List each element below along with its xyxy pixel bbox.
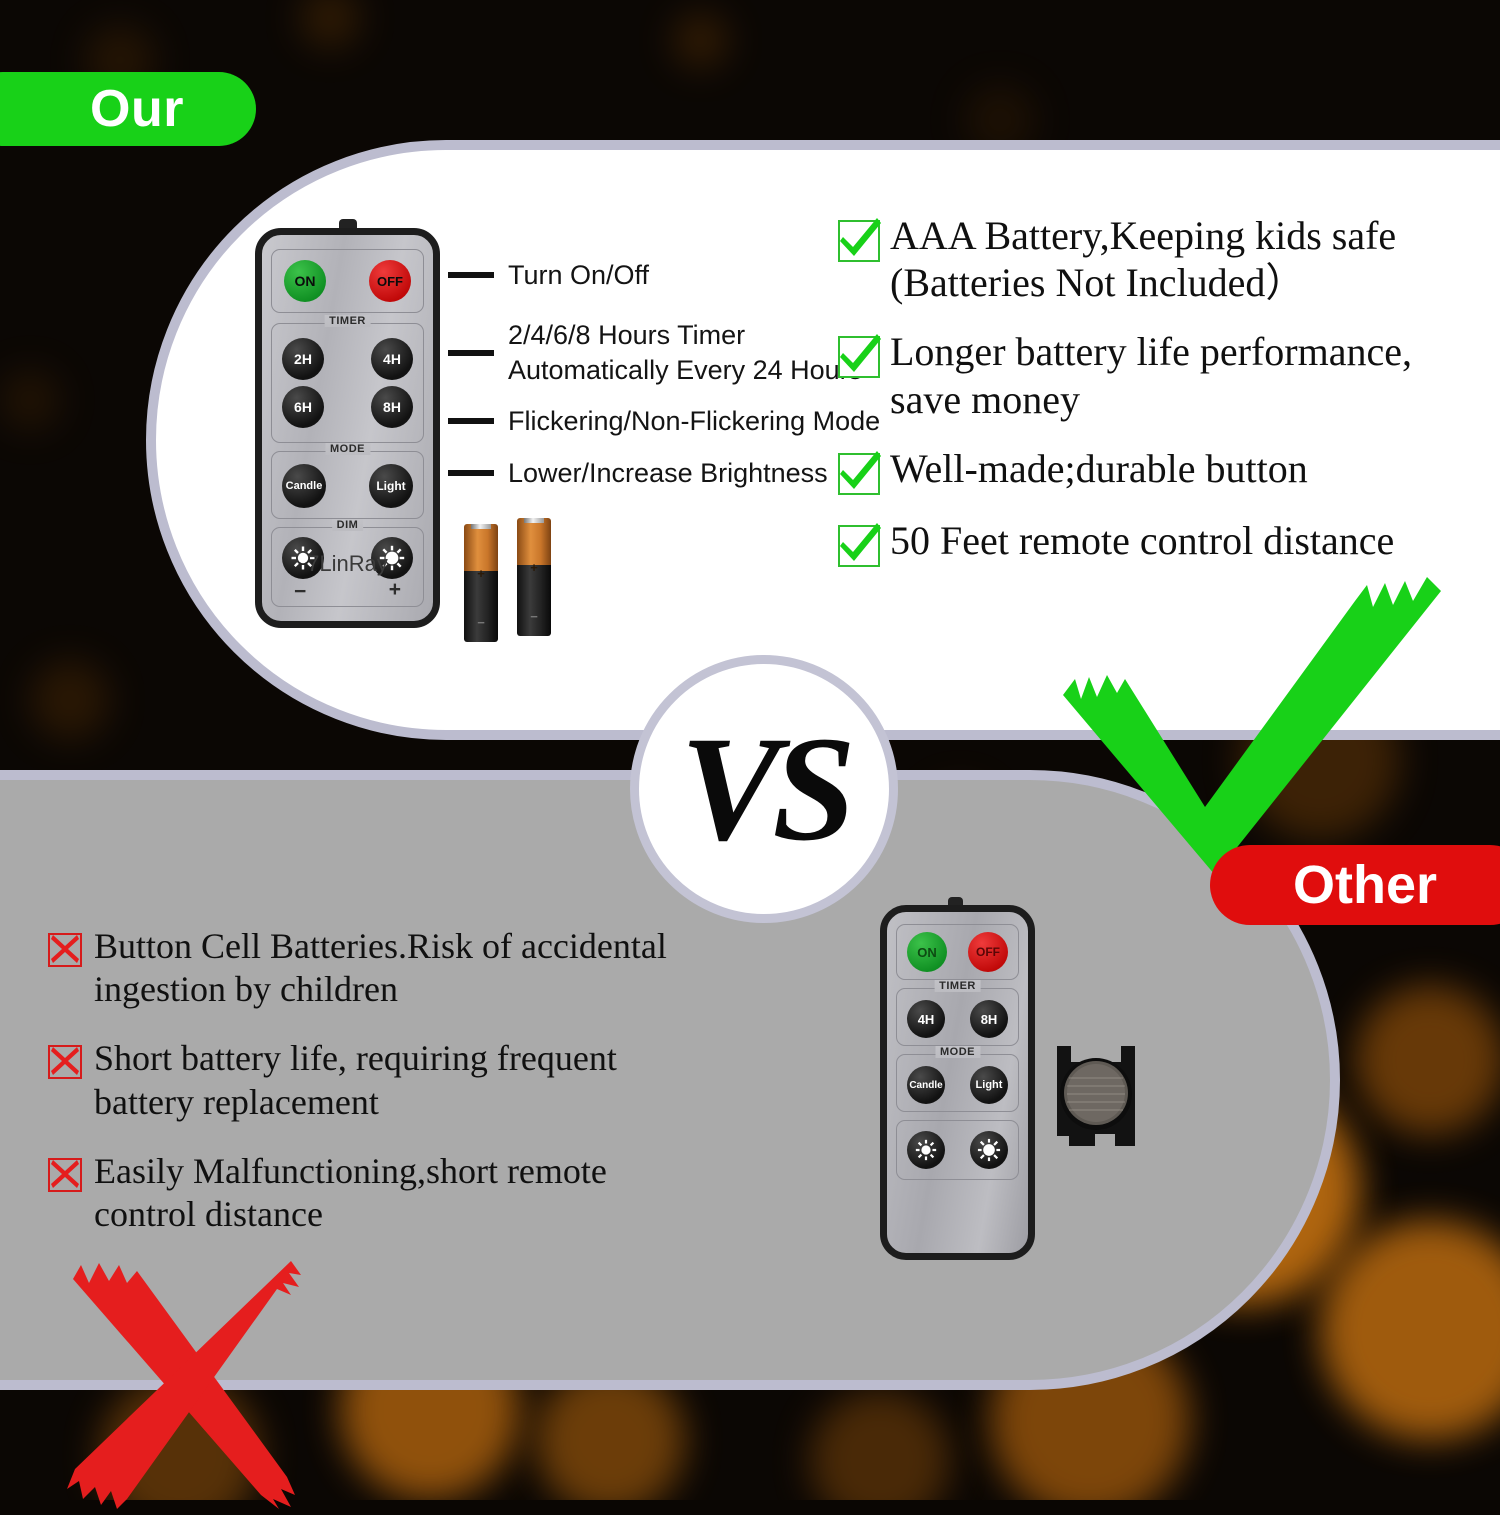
timer-8h-button[interactable]: 8H bbox=[970, 1000, 1008, 1038]
off-button[interactable]: OFF bbox=[369, 260, 411, 302]
battery-plus-mark: + bbox=[464, 566, 498, 581]
callout-mode: Flickering/Non-Flickering Mode bbox=[448, 404, 880, 439]
dim-plus-sign: + bbox=[389, 578, 401, 602]
big-cross-mark-icon bbox=[55, 1255, 355, 1510]
dim-minus-sign: − bbox=[294, 580, 306, 604]
callout-dash bbox=[448, 272, 494, 278]
check-icon bbox=[838, 453, 880, 495]
remote-brand-label: 7LinRay bbox=[262, 551, 433, 577]
battery-top bbox=[517, 518, 551, 565]
check-icon bbox=[838, 220, 880, 262]
other-badge: Other bbox=[1210, 845, 1500, 925]
list-item: 50 Feet remote control distance bbox=[838, 517, 1500, 567]
callout-timer: 2/4/6/8 Hours Timer Automatically Every … bbox=[448, 318, 862, 387]
timer-4h-button[interactable]: 4H bbox=[907, 1000, 945, 1038]
list-item-label: Easily Malfunctioning,short remote contr… bbox=[94, 1150, 607, 1236]
cross-icon bbox=[48, 1158, 82, 1192]
list-item-label: AAA Battery,Keeping kids safe (Batteries… bbox=[890, 212, 1396, 306]
callout-dash bbox=[448, 418, 494, 424]
mode-group: MODE Candle Light bbox=[271, 451, 424, 519]
other-remote-control: ON OFF TIMER 4H 8H MODE Candle Light bbox=[880, 905, 1035, 1260]
vs-badge: VS bbox=[630, 655, 898, 923]
mode-candle-button[interactable]: Candle bbox=[907, 1066, 945, 1104]
timer-group-label: TIMER bbox=[934, 980, 981, 992]
check-icon bbox=[838, 525, 880, 567]
battery-cap bbox=[471, 524, 491, 529]
brightness-down-icon bbox=[914, 1138, 938, 1162]
battery-minus-mark: − bbox=[464, 615, 498, 630]
battery-bottom bbox=[464, 571, 498, 642]
list-item-label: Longer battery life performance, save mo… bbox=[890, 328, 1412, 422]
our-remote-control: ON OFF TIMER 2H 4H 6H 8H MODE Candle Lig… bbox=[255, 228, 440, 628]
list-item-label: 50 Feet remote control distance bbox=[890, 517, 1394, 564]
timer-group-label: TIMER bbox=[324, 315, 371, 327]
mode-group: MODE Candle Light bbox=[896, 1054, 1019, 1112]
callout-label: Turn On/Off bbox=[508, 258, 649, 293]
list-item: Easily Malfunctioning,short remote contr… bbox=[48, 1150, 808, 1236]
power-group: ON OFF bbox=[271, 249, 424, 313]
mode-candle-button[interactable]: Candle bbox=[282, 464, 326, 508]
battery-cap bbox=[524, 518, 544, 523]
list-item: Longer battery life performance, save mo… bbox=[838, 328, 1500, 422]
list-item: Button Cell Batteries.Risk of accidental… bbox=[48, 925, 808, 1011]
mode-group-label: MODE bbox=[325, 443, 370, 455]
timer-8h-button[interactable]: 8H bbox=[371, 386, 413, 428]
callout-dash bbox=[448, 350, 494, 356]
callout-label: 2/4/6/8 Hours Timer Automatically Every … bbox=[508, 318, 862, 387]
vs-label: VS bbox=[680, 714, 847, 864]
pros-list: AAA Battery,Keeping kids safe (Batteries… bbox=[838, 212, 1500, 589]
timer-2h-button[interactable]: 2H bbox=[282, 338, 324, 380]
timer-4h-button[interactable]: 4H bbox=[371, 338, 413, 380]
battery-minus-mark: − bbox=[517, 609, 551, 624]
list-item: AAA Battery,Keeping kids safe (Batteries… bbox=[838, 212, 1500, 306]
power-group: ON OFF bbox=[896, 924, 1019, 980]
list-item: Short battery life, requiring frequent b… bbox=[48, 1037, 808, 1123]
big-check-mark-icon bbox=[1055, 575, 1455, 885]
our-badge-label: Our bbox=[38, 79, 184, 139]
timer-group: TIMER 4H 8H bbox=[896, 988, 1019, 1046]
other-badge-label: Other bbox=[1293, 854, 1447, 916]
dim-group bbox=[896, 1120, 1019, 1180]
list-item-label: Button Cell Batteries.Risk of accidental… bbox=[94, 925, 667, 1011]
list-item-label: Well-made;durable button bbox=[890, 445, 1308, 492]
on-button[interactable]: ON bbox=[284, 260, 326, 302]
check-icon bbox=[838, 336, 880, 378]
cross-icon bbox=[48, 933, 82, 967]
brightness-down-button[interactable] bbox=[907, 1131, 945, 1169]
callout-label: Lower/Increase Brightness bbox=[508, 456, 828, 491]
aaa-battery: + − bbox=[464, 524, 498, 642]
timer-6h-button[interactable]: 6H bbox=[282, 386, 324, 428]
list-item-label: Short battery life, requiring frequent b… bbox=[94, 1037, 617, 1123]
our-badge: Our bbox=[0, 72, 256, 146]
mode-group-label: MODE bbox=[935, 1046, 980, 1058]
callout-dim: Lower/Increase Brightness bbox=[448, 456, 828, 491]
on-button[interactable]: ON bbox=[907, 932, 947, 972]
mode-light-button[interactable]: Light bbox=[970, 1066, 1008, 1104]
battery-plus-mark: + bbox=[517, 560, 551, 575]
brightness-up-icon bbox=[977, 1138, 1001, 1162]
battery-bottom bbox=[517, 565, 551, 636]
mode-light-button[interactable]: Light bbox=[369, 464, 413, 508]
timer-group: TIMER 2H 4H 6H 8H bbox=[271, 323, 424, 443]
off-button[interactable]: OFF bbox=[968, 932, 1008, 972]
callout-label: Flickering/Non-Flickering Mode bbox=[508, 404, 880, 439]
callout-dash bbox=[448, 470, 494, 476]
button-cell-battery bbox=[1047, 1038, 1145, 1156]
aaa-battery: + − bbox=[517, 518, 551, 636]
battery-top bbox=[464, 524, 498, 571]
cons-list: Button Cell Batteries.Risk of accidental… bbox=[48, 925, 808, 1262]
list-item: Well-made;durable button bbox=[838, 445, 1500, 495]
callout-power: Turn On/Off bbox=[448, 258, 649, 293]
brightness-up-button[interactable] bbox=[970, 1131, 1008, 1169]
cross-icon bbox=[48, 1045, 82, 1079]
dim-group-label: DIM bbox=[332, 519, 364, 531]
